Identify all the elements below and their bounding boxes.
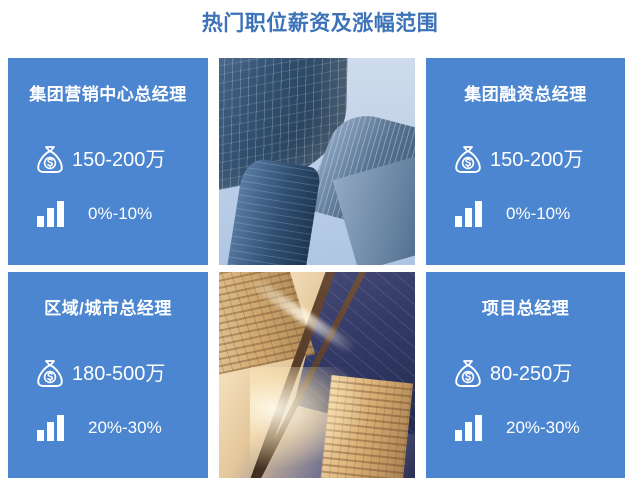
- salary-value: 180-500万: [72, 362, 165, 386]
- growth-metric: 0%-10%: [30, 194, 152, 234]
- card-bottom-left[interactable]: 区域/城市总经理 180-500万: [8, 272, 208, 478]
- card-title: 区域/城市总经理: [8, 298, 208, 320]
- salary-value: 150-200万: [72, 148, 165, 172]
- card-top-right[interactable]: 集团融资总经理 150-200万: [426, 58, 625, 265]
- salary-value: 80-250万: [490, 362, 572, 386]
- card-title: 集团融资总经理: [426, 84, 625, 106]
- salary-metric: 150-200万: [448, 140, 583, 180]
- sun-glow: [250, 367, 368, 470]
- page-title: 热门职位薪资及涨幅范围: [0, 8, 640, 40]
- money-bag-icon: [448, 140, 488, 180]
- growth-value: 20%-30%: [506, 416, 580, 440]
- salary-metric: 180-500万: [30, 354, 165, 394]
- salary-metric: 150-200万: [30, 140, 165, 180]
- growth-value: 20%-30%: [88, 416, 162, 440]
- salary-value: 150-200万: [490, 148, 583, 172]
- card-top-left[interactable]: 集团营销中心总经理 150-200万: [8, 58, 208, 265]
- info-card[interactable]: 区域/城市总经理 180-500万: [8, 272, 208, 478]
- skyscrapers-sunset-photo: [219, 272, 415, 478]
- photo-bottom-center: [219, 272, 415, 478]
- salary-metric: 80-250万: [448, 354, 572, 394]
- bar-chart-icon: [30, 194, 70, 234]
- growth-metric: 20%-30%: [448, 408, 580, 448]
- info-card[interactable]: 项目总经理 80-250万: [426, 272, 625, 478]
- cards-grid: 集团营销中心总经理 150-200万: [8, 58, 625, 478]
- info-card[interactable]: 集团融资总经理 150-200万: [426, 58, 625, 265]
- infographic-page: 热门职位薪资及涨幅范围 集团营销中心总经理: [0, 0, 640, 485]
- skyscrapers-blue-glass-photo: [219, 58, 415, 265]
- growth-value: 0%-10%: [506, 202, 570, 226]
- money-bag-icon: [448, 354, 488, 394]
- bar-chart-icon: [448, 194, 488, 234]
- card-bottom-right[interactable]: 项目总经理 80-250万: [426, 272, 625, 478]
- growth-metric: 20%-30%: [30, 408, 162, 448]
- bar-chart-icon: [30, 408, 70, 448]
- card-title: 项目总经理: [426, 298, 625, 320]
- info-card[interactable]: 集团营销中心总经理 150-200万: [8, 58, 208, 265]
- money-bag-icon: [30, 354, 70, 394]
- card-title: 集团营销中心总经理: [8, 84, 208, 106]
- photo-top-center: [219, 58, 415, 265]
- money-bag-icon: [30, 140, 70, 180]
- bar-chart-icon: [448, 408, 488, 448]
- growth-metric: 0%-10%: [448, 194, 570, 234]
- growth-value: 0%-10%: [88, 202, 152, 226]
